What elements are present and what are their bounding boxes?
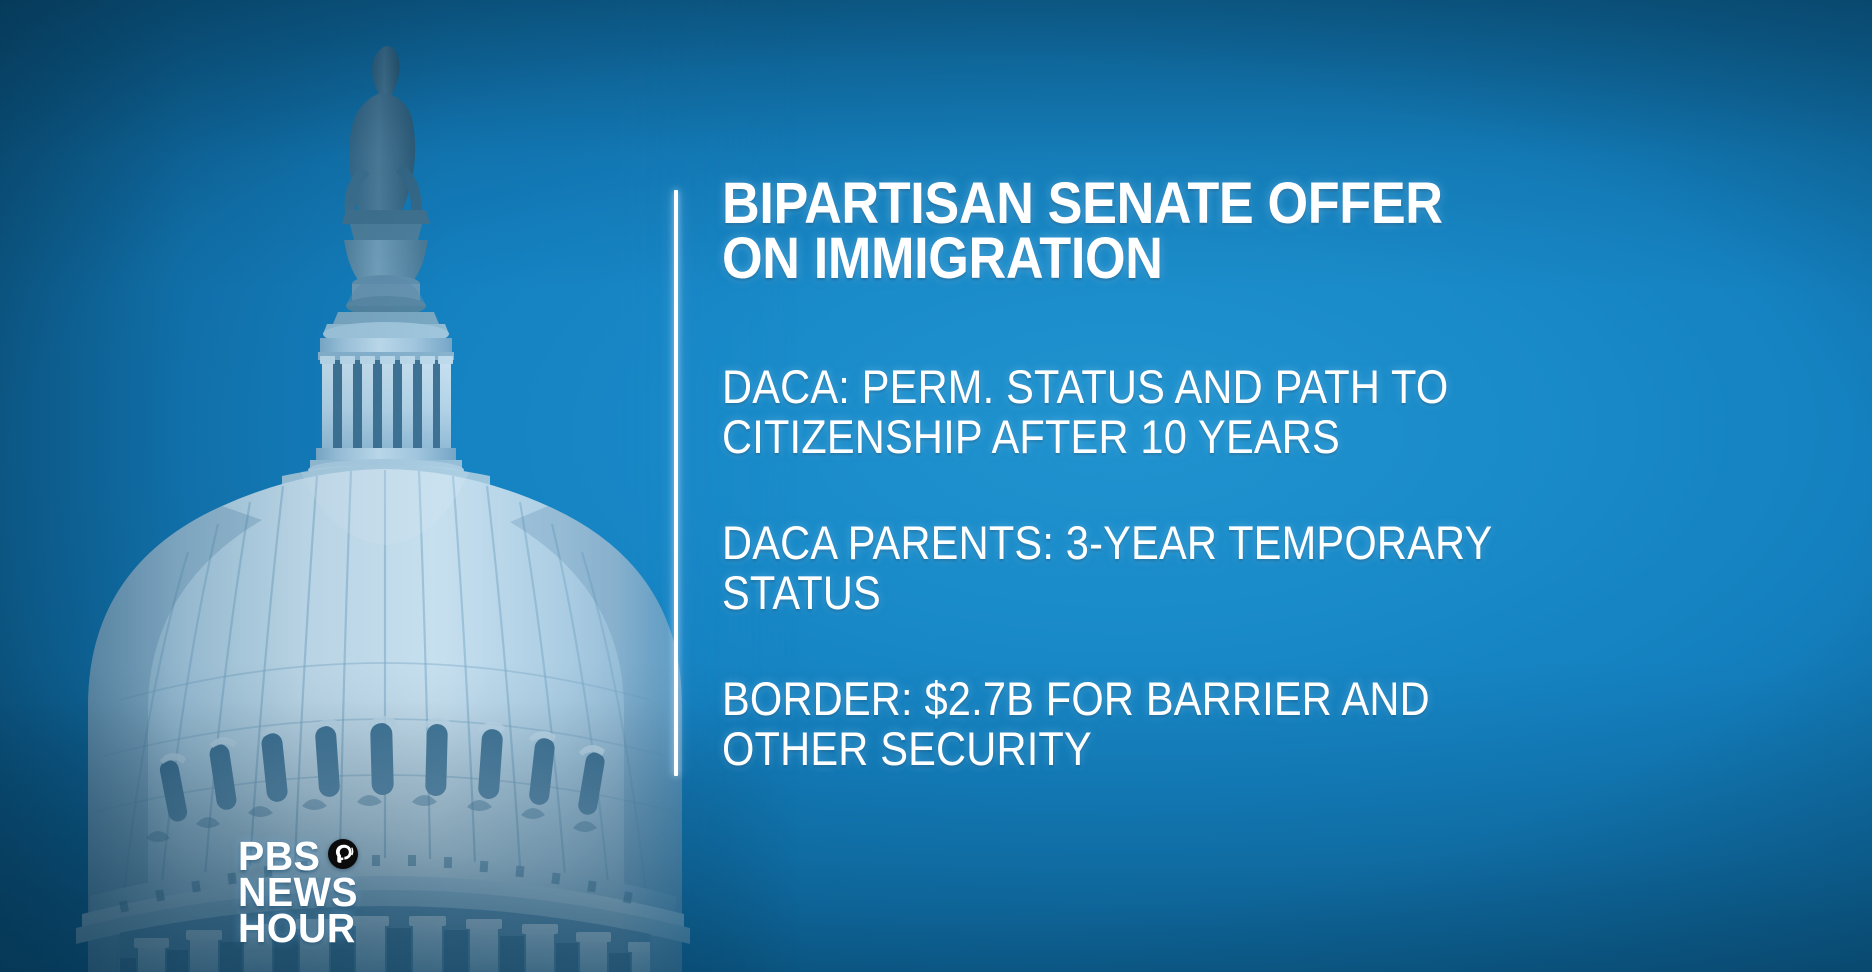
pbs-head-icon: [328, 839, 358, 869]
vertical-divider-rule: [674, 190, 678, 776]
pbs-newshour-logo: PBS NEWS HOUR: [238, 838, 498, 946]
text-column: BIPARTISAN SENATE OFFER ON IMMIGRATION D…: [722, 176, 1782, 774]
list-item: DACA PARENTS: 3-YEAR TEMPORARY STATUS: [722, 518, 1660, 618]
page-title: BIPARTISAN SENATE OFFER ON IMMIGRATION: [722, 176, 1676, 286]
list-item: BORDER: $2.7B FOR BARRIER AND OTHER SECU…: [722, 674, 1660, 774]
logo-text-hour: HOUR: [238, 910, 488, 946]
list-item: DACA: PERM. STATUS AND PATH TO CITIZENSH…: [722, 362, 1660, 462]
broadcast-graphic: BIPARTISAN SENATE OFFER ON IMMIGRATION D…: [0, 0, 1872, 972]
